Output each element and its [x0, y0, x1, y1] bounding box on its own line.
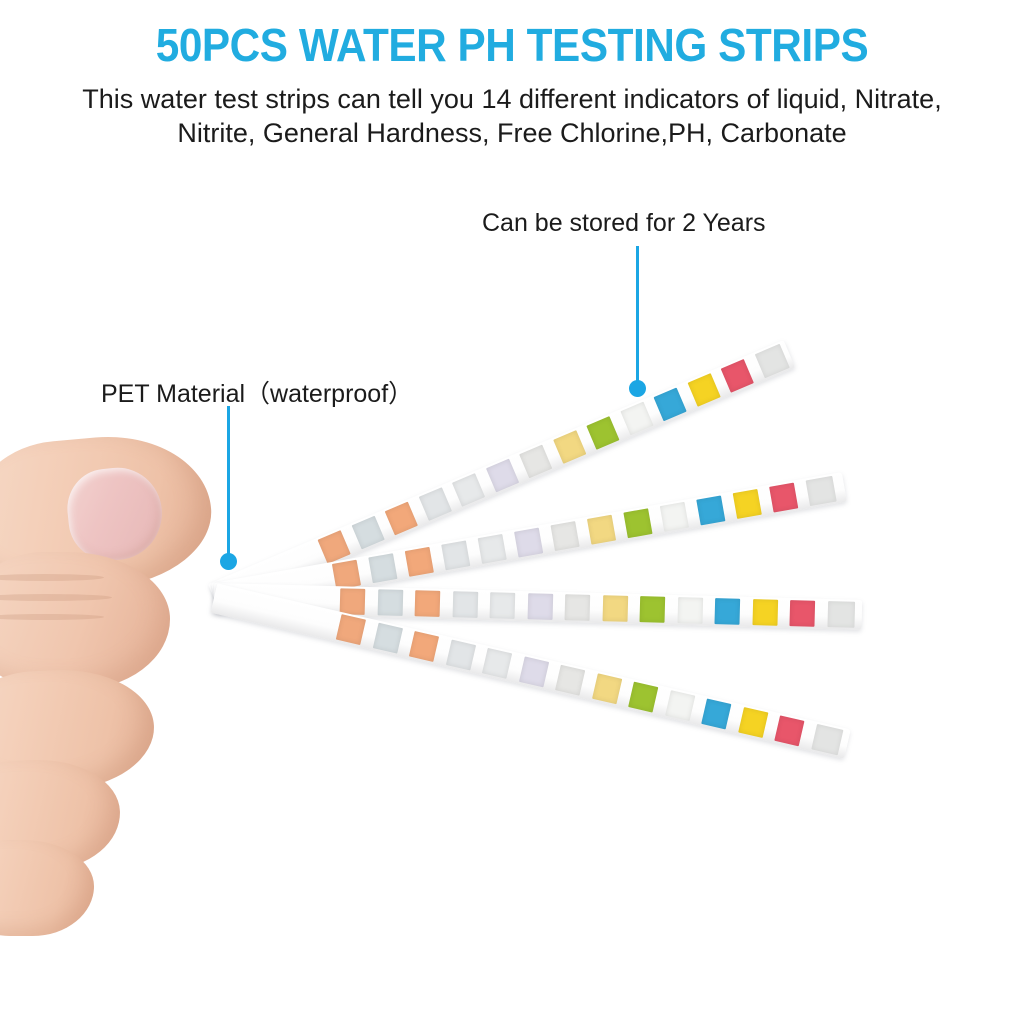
pad-ph-mid	[640, 596, 666, 623]
pad-carbonate	[551, 521, 580, 551]
pad-total-alkalinity	[486, 459, 519, 493]
pad-carbonate	[519, 445, 552, 479]
callout-leader-line-storage	[636, 246, 639, 386]
page-subtitle: This water test strips can tell you 14 d…	[26, 82, 998, 150]
pad-ph-mid	[628, 682, 658, 713]
pad-copper	[721, 359, 754, 393]
pad-ph-low	[587, 515, 616, 545]
pad-total-chlorine	[482, 648, 512, 679]
subtitle-line-1: This water test strips can tell you 14 d…	[26, 82, 998, 116]
pad-bromine	[701, 698, 731, 729]
hand-holding-strips	[0, 420, 270, 940]
pad-ph-low	[592, 673, 622, 704]
pad-cyanuric-acid	[660, 502, 689, 532]
pad-free-chlorine	[452, 591, 478, 618]
pad-total-alkalinity	[514, 528, 543, 558]
pad-total-alkalinity	[518, 656, 548, 687]
pad-copper	[789, 600, 815, 627]
pad-nitrite	[372, 623, 402, 654]
pad-total-hardness	[409, 631, 439, 662]
skin-crease	[0, 574, 104, 581]
pad-nitrite	[351, 516, 384, 550]
pad-nitrate	[332, 560, 361, 590]
pad-ph-mid	[623, 508, 652, 538]
pad-ph-low	[553, 430, 586, 464]
callout-label-storage: Can be stored for 2 Years	[482, 209, 766, 238]
pad-carbonate	[565, 594, 591, 621]
skin-crease	[0, 614, 104, 620]
pad-free-chlorine	[445, 639, 475, 670]
pad-free-chlorine	[441, 540, 470, 570]
callout-dot-storage	[629, 380, 646, 397]
pad-total-hardness	[385, 502, 418, 536]
pad-iron	[733, 489, 762, 519]
pad-cyanuric-acid	[620, 402, 653, 436]
product-image-canvas: 50PCS WATER PH TESTING STRIPS This water…	[0, 0, 1024, 1024]
pad-blank-tip	[754, 344, 789, 378]
pad-ph-low	[602, 595, 628, 622]
pad-cyanuric-acid	[665, 690, 695, 721]
pad-iron	[687, 373, 720, 407]
pad-bromine	[654, 388, 687, 422]
pad-total-hardness	[415, 590, 441, 617]
pad-iron	[752, 599, 778, 626]
pad-nitrite	[368, 553, 397, 583]
pad-nitrate	[336, 614, 366, 645]
pad-total-chlorine	[452, 473, 485, 507]
pad-nitrite	[377, 589, 403, 616]
pad-total-alkalinity	[527, 593, 553, 620]
pad-bromine	[714, 598, 740, 625]
page-headline: 50PCS WATER PH TESTING STRIPS	[41, 18, 983, 72]
pad-total-chlorine	[478, 534, 507, 564]
pad-blank-tip	[806, 476, 837, 506]
pad-copper	[774, 715, 804, 746]
pad-copper	[769, 483, 798, 513]
pad-ph-mid	[586, 416, 619, 450]
pad-blank-tip	[827, 601, 855, 628]
pad-total-hardness	[405, 547, 434, 577]
subtitle-line-2: Nitrite, General Hardness, Free Chlorine…	[26, 116, 998, 150]
pad-blank-tip	[811, 724, 843, 755]
pad-bromine	[696, 495, 725, 525]
skin-crease	[0, 594, 112, 601]
callout-label-material: PET Material（waterproof）	[101, 374, 413, 410]
pad-free-chlorine	[418, 487, 451, 521]
pad-cyanuric-acid	[677, 597, 703, 624]
pad-carbonate	[555, 665, 585, 696]
pad-nitrate	[340, 588, 366, 615]
pad-iron	[738, 707, 768, 738]
pad-total-chlorine	[490, 592, 516, 619]
